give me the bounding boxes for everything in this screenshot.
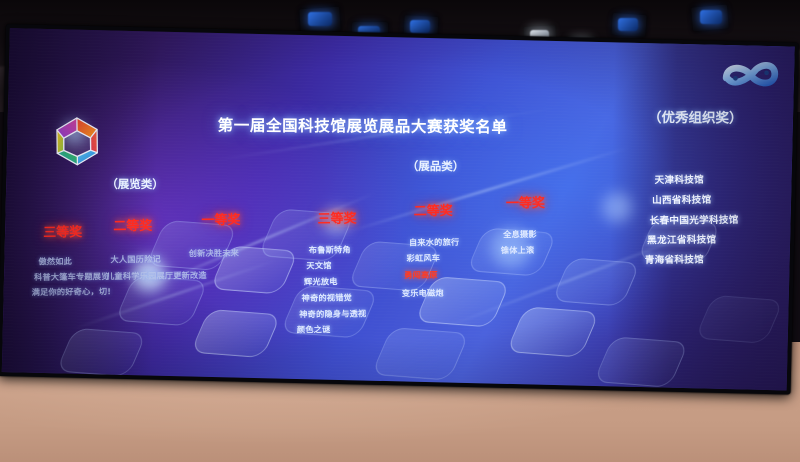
prize-heading-exhibition-second: 二等奖: [113, 215, 152, 234]
entry-exhibition-second-1: 大人国历险记: [110, 253, 160, 266]
organization-item-5: 青海省科技馆: [645, 251, 705, 266]
entry-item-third-4: 神奇的视错觉: [302, 291, 352, 304]
entry-item-third-3: 辉光放电: [304, 275, 338, 287]
entry-item-second-2: 彩虹风车: [407, 252, 441, 264]
entry-exhibition-third-1: 傲然如此: [38, 255, 72, 267]
screen-surface: 第一届全国科技馆展览展品大赛获奖名单 （展览类） 三等奖 傲然如此 科普大篷车专…: [2, 28, 795, 390]
organization-item-2: 山西省科技馆: [652, 192, 712, 207]
entry-item-second-3-highlighted: 勇闯高原: [404, 269, 438, 281]
entry-item-second-4: 变乐电磁炮: [402, 287, 444, 299]
entry-exhibition-third-3: 满足你的好奇心，切!: [32, 285, 112, 298]
page-title: 第一届全国科技馆展览展品大赛获奖名单: [218, 114, 508, 138]
organization-item-1: 天津科技馆: [654, 172, 704, 187]
section-label-exhibit-items: （展品类）: [407, 158, 465, 174]
led-screen: 第一届全国科技馆展览展品大赛获奖名单 （展览类） 三等奖 傲然如此 科普大篷车专…: [0, 24, 800, 403]
section-label-organization: （优秀组织奖）: [648, 106, 743, 127]
prize-heading-exhibition-third: 三等奖: [43, 221, 82, 240]
entry-exhibition-first-1: 创新决胜未来: [189, 247, 239, 260]
prize-heading-exhibition-first: 一等奖: [201, 209, 240, 228]
entry-item-third-2: 天文馆: [306, 259, 331, 271]
entry-exhibition-third-2: 科普大篷车专题展览: [34, 270, 110, 283]
organization-item-4: 黑龙江省科技馆: [647, 232, 716, 247]
entry-item-third-5: 神奇的隐身与透视: [299, 307, 366, 320]
section-label-exhibition: （展览类）: [106, 176, 164, 192]
entry-exhibition-second-2: 儿童科学乐园展厅更新改造: [106, 269, 207, 282]
prize-heading-item-third: 三等奖: [317, 208, 356, 227]
prize-heading-item-first: 一等奖: [506, 192, 545, 211]
slide-content: 第一届全国科技馆展览展品大赛获奖名单 （展览类） 三等奖 傲然如此 科普大篷车专…: [2, 28, 795, 390]
photo-scene: 第一届全国科技馆展览展品大赛获奖名单 （展览类） 三等奖 傲然如此 科普大篷车专…: [0, 0, 800, 462]
entry-item-third-6: 颜色之谜: [297, 323, 331, 335]
entry-item-first-1: 全息摄影: [503, 228, 537, 240]
entry-item-first-2: 锥体上滚: [501, 244, 535, 256]
prize-heading-item-second: 二等奖: [414, 200, 453, 219]
entry-item-third-1: 布鲁斯特角: [309, 243, 351, 255]
organization-item-3: 长春中国光学科技馆: [650, 212, 739, 227]
entry-item-second-1: 自来水的旅行: [409, 236, 459, 249]
